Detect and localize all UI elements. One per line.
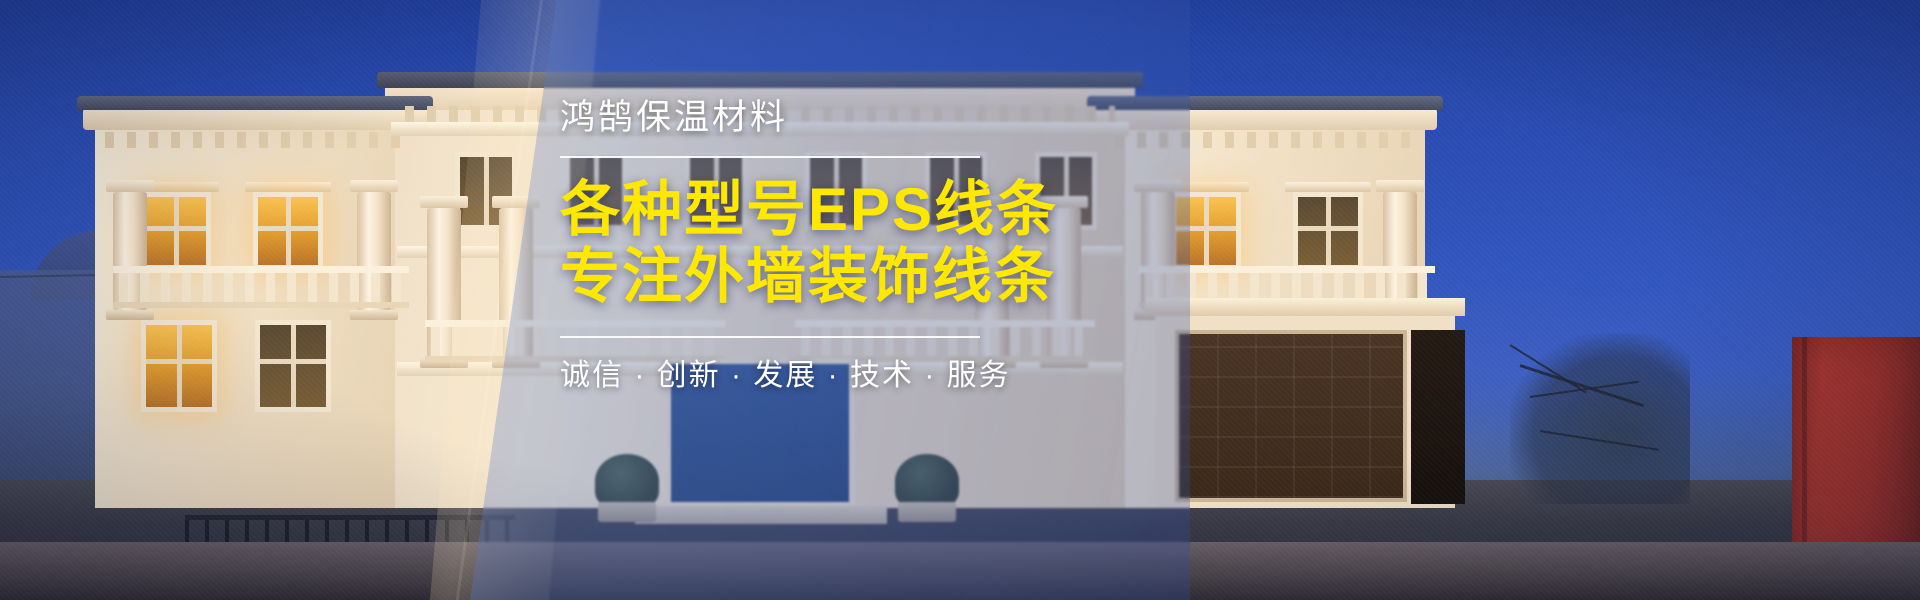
left-wing-balustrade	[113, 266, 409, 308]
window-hood	[245, 182, 331, 192]
divider-bottom	[560, 336, 980, 338]
headline-line-1: 各种型号EPS线条	[560, 176, 1260, 243]
tree-branch	[1540, 430, 1659, 451]
tree	[1510, 334, 1690, 504]
window-mullion-vertical	[174, 197, 179, 265]
left-wing-window-lower	[141, 320, 217, 412]
window-mullion-vertical	[484, 157, 489, 225]
entrance-planter-right	[898, 502, 956, 522]
hero-copy-block: 鸿鹄保温材料 各种型号EPS线条 专注外墙装饰线条 诚信 · 创新 · 发展 ·…	[560, 96, 1260, 395]
villa-roofline	[377, 72, 1143, 88]
driveway	[0, 542, 1920, 600]
window-mullion-horizontal	[1298, 226, 1358, 231]
red-container-wall	[1792, 337, 1920, 562]
window-mullion-vertical	[291, 325, 296, 407]
window-mullion-vertical	[177, 325, 182, 407]
garage-side-opening	[1411, 330, 1465, 504]
window-mullion-horizontal	[146, 226, 206, 231]
right-wing-window-upper-2	[1293, 192, 1363, 270]
window-mullion-vertical	[1326, 197, 1331, 265]
window-mullion-horizontal	[260, 359, 326, 364]
left-wing-dentil-moulding	[105, 132, 405, 148]
entrance-steps	[635, 506, 887, 524]
left-wing-window-upper-2	[253, 192, 323, 270]
left-wing-roof-cap	[77, 96, 433, 110]
left-wing-window-lower-2	[255, 320, 331, 412]
tree-branch	[1520, 364, 1645, 407]
left-wing-window-upper	[141, 192, 211, 270]
entrance-shrub-left	[595, 454, 659, 508]
left-wing-roof	[83, 108, 427, 130]
window-hood	[1285, 182, 1371, 192]
window-mullion-horizontal	[258, 226, 318, 231]
window-mullion-horizontal	[146, 359, 212, 364]
tree-branch	[1530, 381, 1639, 398]
hero-banner: 鸿鹄保温材料 各种型号EPS线条 专注外墙装饰线条 诚信 · 创新 · 发展 ·…	[0, 0, 1920, 600]
brand-name: 鸿鹄保温材料	[560, 96, 1260, 140]
headline-line-2: 专注外墙装饰线条	[560, 243, 1260, 310]
entrance-planter-left	[598, 502, 656, 522]
divider-top	[560, 156, 980, 158]
window-mullion-vertical	[286, 197, 291, 265]
tree-branch	[1509, 344, 1586, 393]
tagline: 诚信 · 创新 · 发展 · 技术 · 服务	[560, 356, 1260, 395]
entrance-shrub-right	[895, 454, 959, 508]
